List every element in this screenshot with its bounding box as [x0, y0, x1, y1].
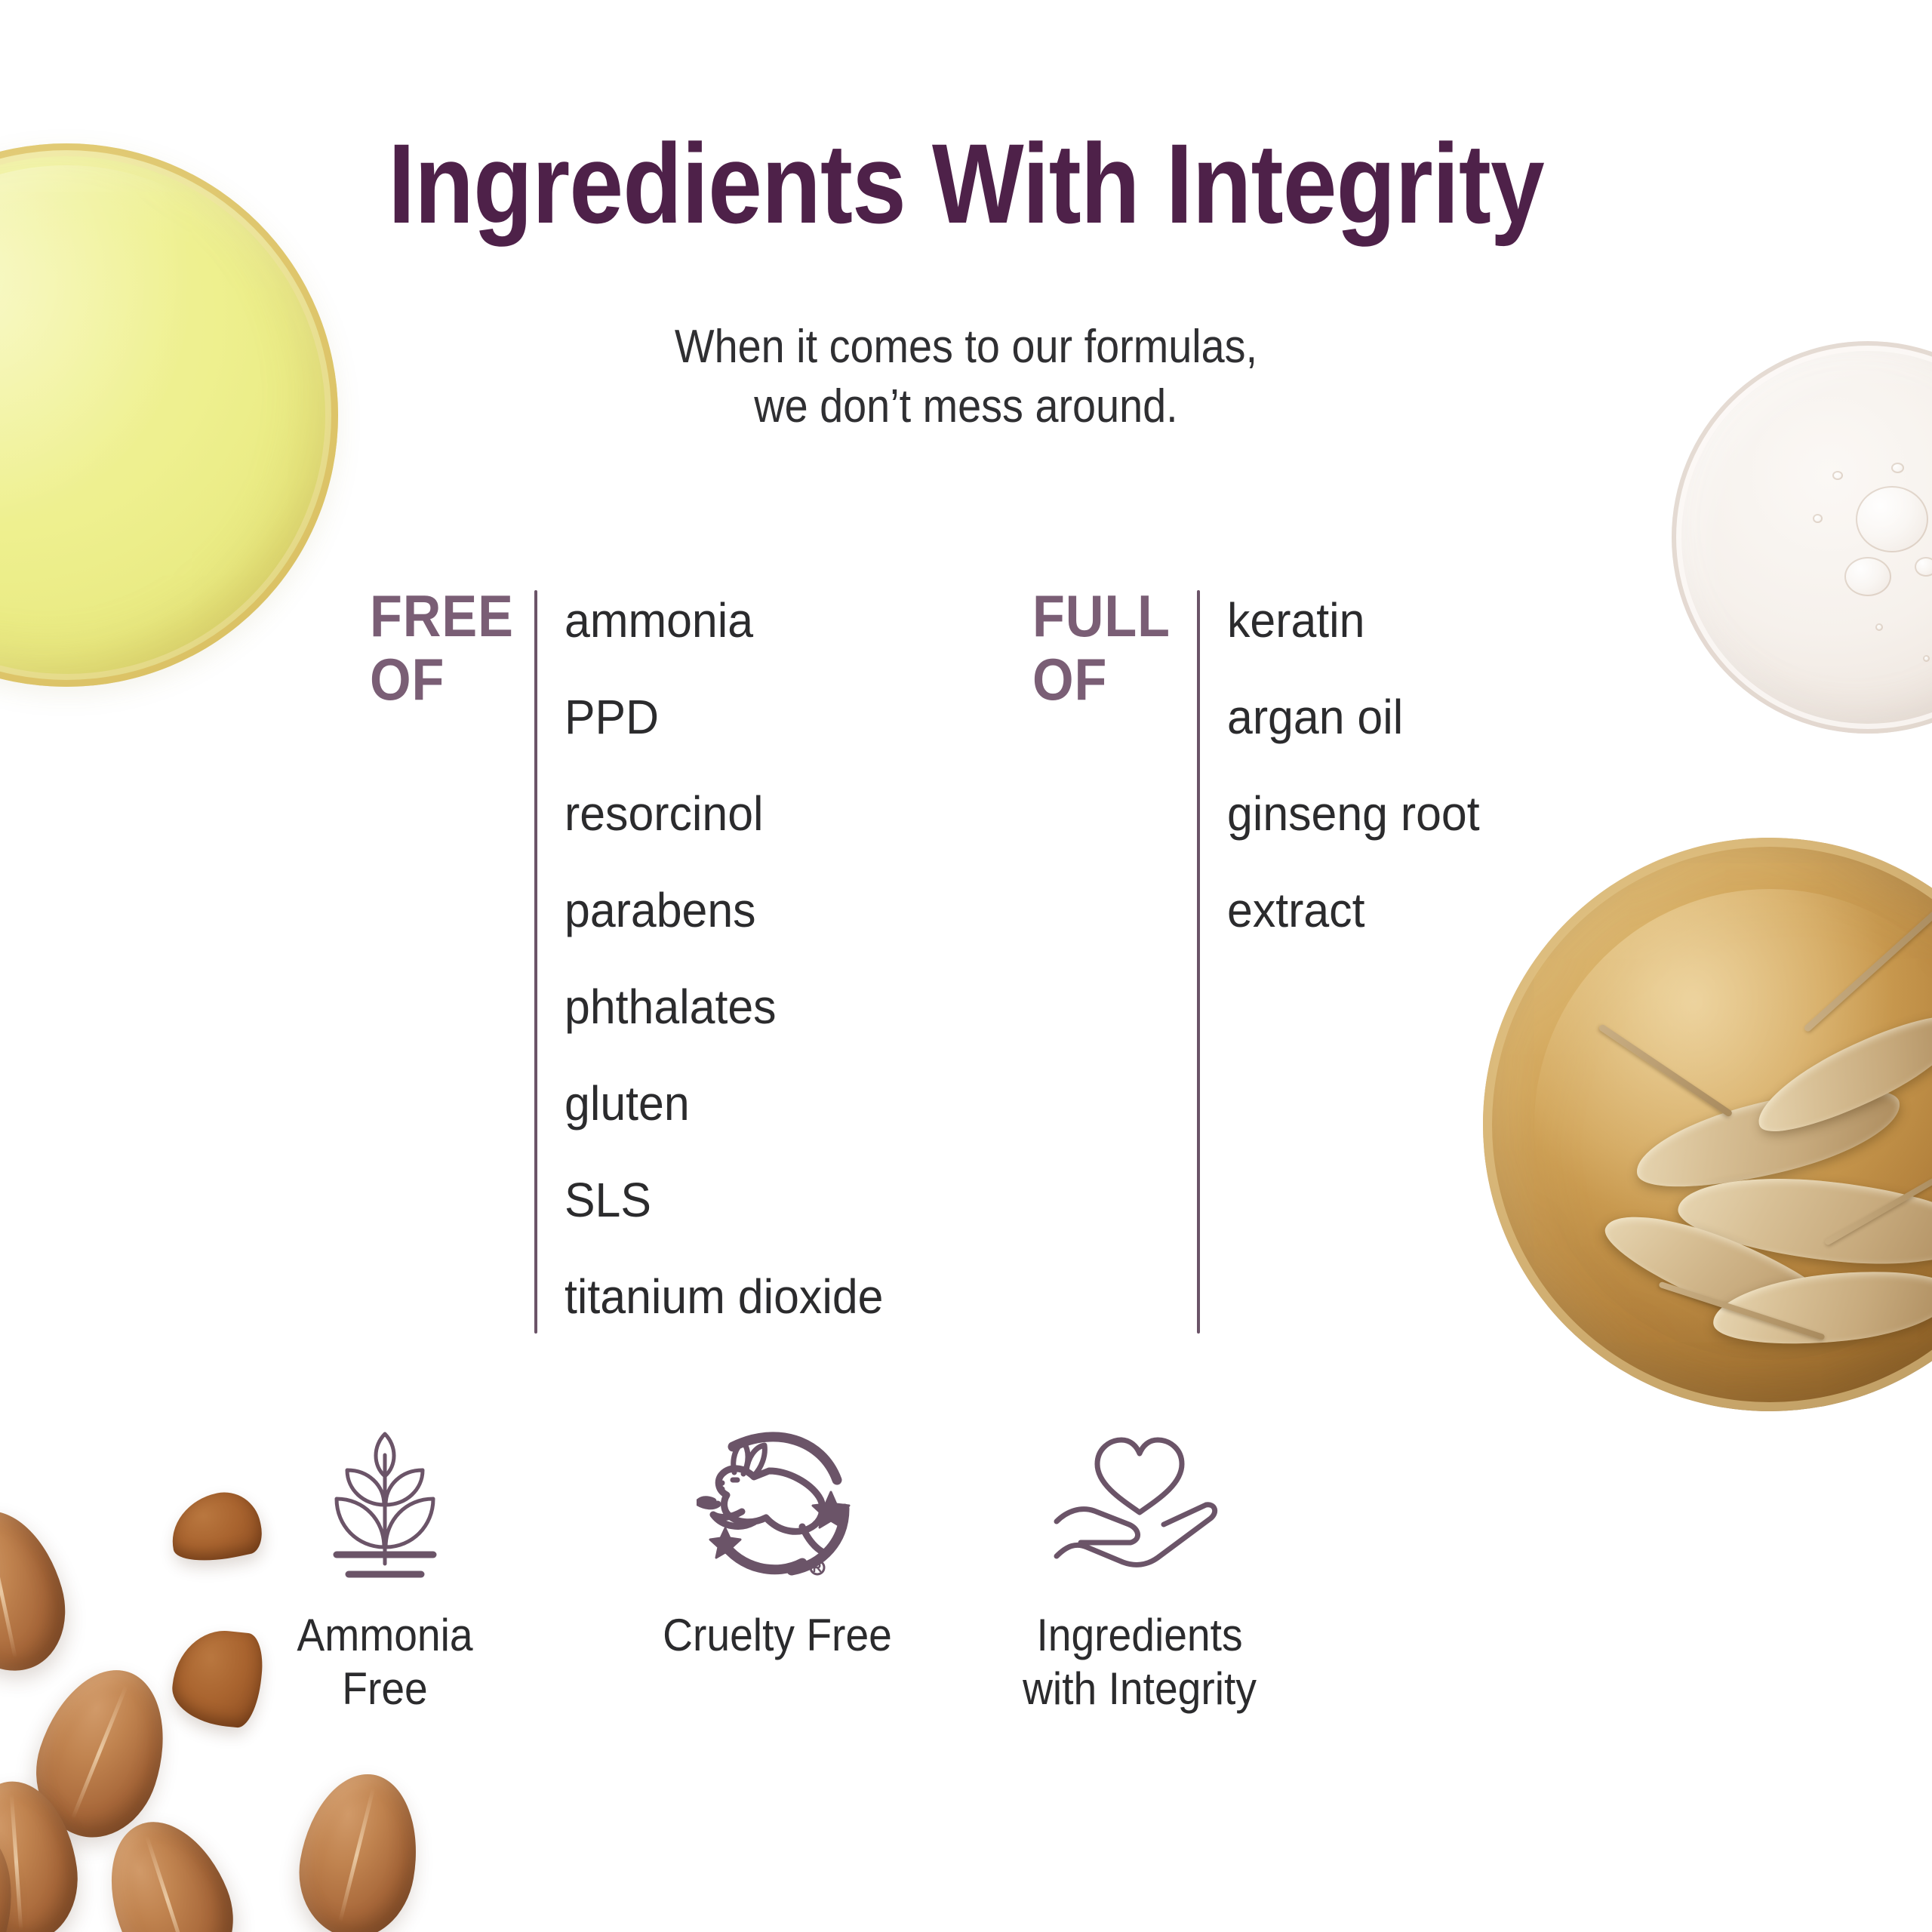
ingredient-columns: FREE OF ammonia PPD resorcinol parabens …	[0, 581, 1932, 1343]
subtitle-line-1: When it comes to our formulas,	[97, 317, 1835, 377]
list-item: parabens	[565, 862, 1081, 958]
column-full-of: FULL OF keratin argan oil ginseng root e…	[1032, 581, 1772, 1343]
page-title: Ingredients With Integrity	[135, 127, 1797, 240]
free-of-list: ammonia PPD resorcinol parabens phthalat…	[565, 572, 1108, 1345]
column-free-of-label-line-2: OF	[370, 648, 506, 711]
column-free-of-label-line-1: FREE	[370, 583, 514, 649]
list-item: argan oil	[1227, 669, 1743, 765]
column-free-of: FREE OF ammonia PPD resorcinol parabens …	[370, 581, 1109, 1343]
list-item: ammonia	[565, 572, 1081, 669]
list-item: PPD	[565, 669, 1081, 765]
list-item: ginseng root	[1227, 765, 1743, 862]
badge-cruelty-free: Cruelty Free	[619, 1419, 936, 1663]
list-item: resorcinol	[565, 765, 1081, 862]
badge-label-line-2: Free	[239, 1663, 531, 1716]
list-item: SLS	[565, 1152, 1081, 1248]
full-of-list: keratin argan oil ginseng root extract	[1227, 572, 1770, 958]
list-item: titanium dioxide	[565, 1248, 1081, 1345]
list-item: keratin	[1227, 572, 1743, 669]
column-divider-line	[1197, 590, 1200, 1334]
list-item: phthalates	[565, 958, 1081, 1055]
badge-cruelty-free-label: Cruelty Free	[632, 1609, 923, 1663]
column-full-of-label-line-2: OF	[1032, 648, 1168, 711]
list-item: extract	[1227, 862, 1743, 958]
column-free-of-label: FREE OF	[370, 584, 506, 711]
plant-sprout-icon	[226, 1419, 543, 1592]
hand-holding-heart-icon	[981, 1419, 1298, 1592]
badge-ammonia-free-label: Ammonia Free	[239, 1609, 531, 1716]
page-subtitle: When it comes to our formulas, we don’t …	[97, 317, 1835, 437]
certification-badges: Ammonia Free	[226, 1419, 1585, 1841]
badge-label-line-1: Cruelty Free	[632, 1609, 923, 1663]
list-item: gluten	[565, 1055, 1081, 1152]
column-full-of-label-line-1: FULL	[1032, 583, 1171, 649]
column-full-of-label: FULL OF	[1032, 584, 1168, 711]
badge-ammonia-free: Ammonia Free	[226, 1419, 543, 1716]
leaping-bunny-cruelty-free-icon	[619, 1419, 936, 1592]
infographic-canvas: Ingredients With Integrity When it comes…	[0, 0, 1932, 1932]
badge-label-line-1: Ingredients	[994, 1609, 1285, 1663]
badge-label-line-2: with Integrity	[994, 1663, 1285, 1716]
subtitle-line-2: we don’t mess around.	[97, 377, 1835, 436]
badge-label-line-1: Ammonia	[239, 1609, 531, 1663]
badge-ingredients-with-integrity: Ingredients with Integrity	[981, 1419, 1298, 1716]
badge-ingredients-with-integrity-label: Ingredients with Integrity	[994, 1609, 1285, 1716]
column-divider-line	[534, 590, 537, 1334]
